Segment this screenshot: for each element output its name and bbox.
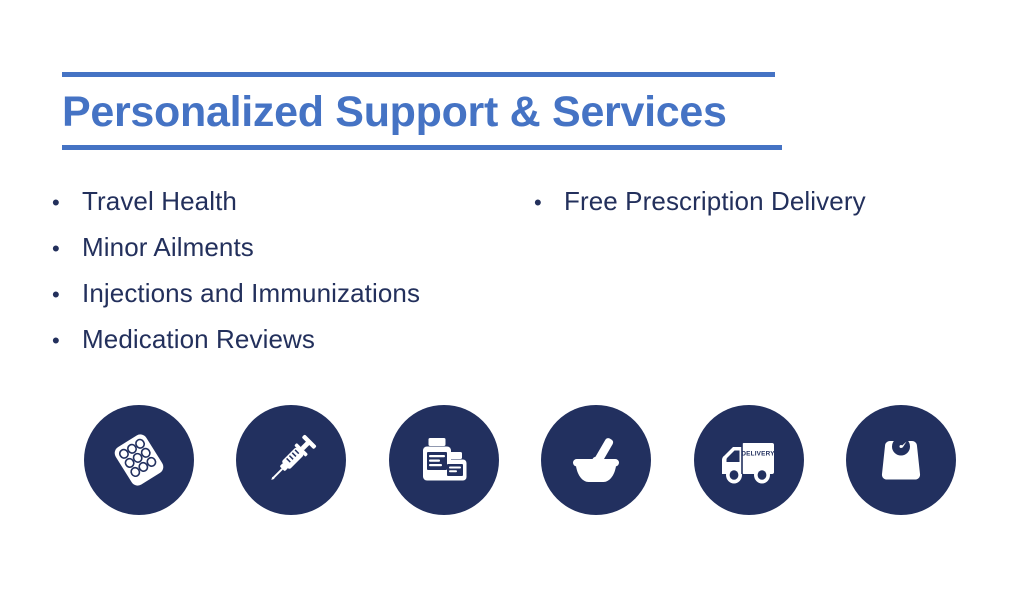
list-item-label: Minor Ailments [82, 224, 254, 270]
list-item: • Minor Ailments [52, 224, 532, 270]
list-item: • Medication Reviews [52, 316, 532, 362]
bullet-column-right: • Free Prescription Delivery [534, 178, 1004, 224]
service-icon-row: DELIVERY [84, 404, 956, 516]
bullet-marker-icon: • [52, 180, 82, 226]
blister-pack-icon [107, 428, 171, 492]
icon-badge-weighing-scale [846, 405, 956, 515]
bullet-column-left: • Travel Health • Minor Ailments • Injec… [52, 178, 532, 362]
list-item: • Travel Health [52, 178, 532, 224]
medicine-bottles-icon [412, 428, 476, 492]
bullet-lists: • Travel Health • Minor Ailments • Injec… [0, 178, 1025, 363]
syringe-icon [259, 428, 323, 492]
slide-canvas: Personalized Support & Services • Travel… [0, 0, 1025, 590]
list-item-label: Travel Health [82, 178, 237, 224]
bullet-marker-icon: • [52, 272, 82, 318]
bullet-marker-icon: • [534, 180, 564, 226]
bullet-marker-icon: • [52, 226, 82, 272]
icon-badge-delivery-truck: DELIVERY [694, 405, 804, 515]
list-item-label: Free Prescription Delivery [564, 178, 866, 224]
delivery-truck-icon: DELIVERY [714, 428, 784, 492]
list-item: • Injections and Immunizations [52, 270, 532, 316]
icon-badge-mortar-pestle [541, 405, 651, 515]
title-block: Personalized Support & Services [62, 72, 782, 150]
delivery-truck-text: DELIVERY [741, 451, 775, 458]
mortar-and-pestle-icon [564, 428, 628, 492]
icon-badge-medicine-bottles [389, 405, 499, 515]
page-title: Personalized Support & Services [62, 86, 782, 138]
title-rule-top [62, 72, 775, 77]
list-item-label: Medication Reviews [82, 316, 315, 362]
icon-badge-blister-pack [84, 405, 194, 515]
weighing-scale-icon [869, 428, 933, 492]
list-item: • Free Prescription Delivery [534, 178, 1004, 224]
bullet-marker-icon: • [52, 318, 82, 364]
title-rule-bottom [62, 145, 782, 150]
icon-badge-syringe [236, 405, 346, 515]
list-item-label: Injections and Immunizations [82, 270, 420, 316]
